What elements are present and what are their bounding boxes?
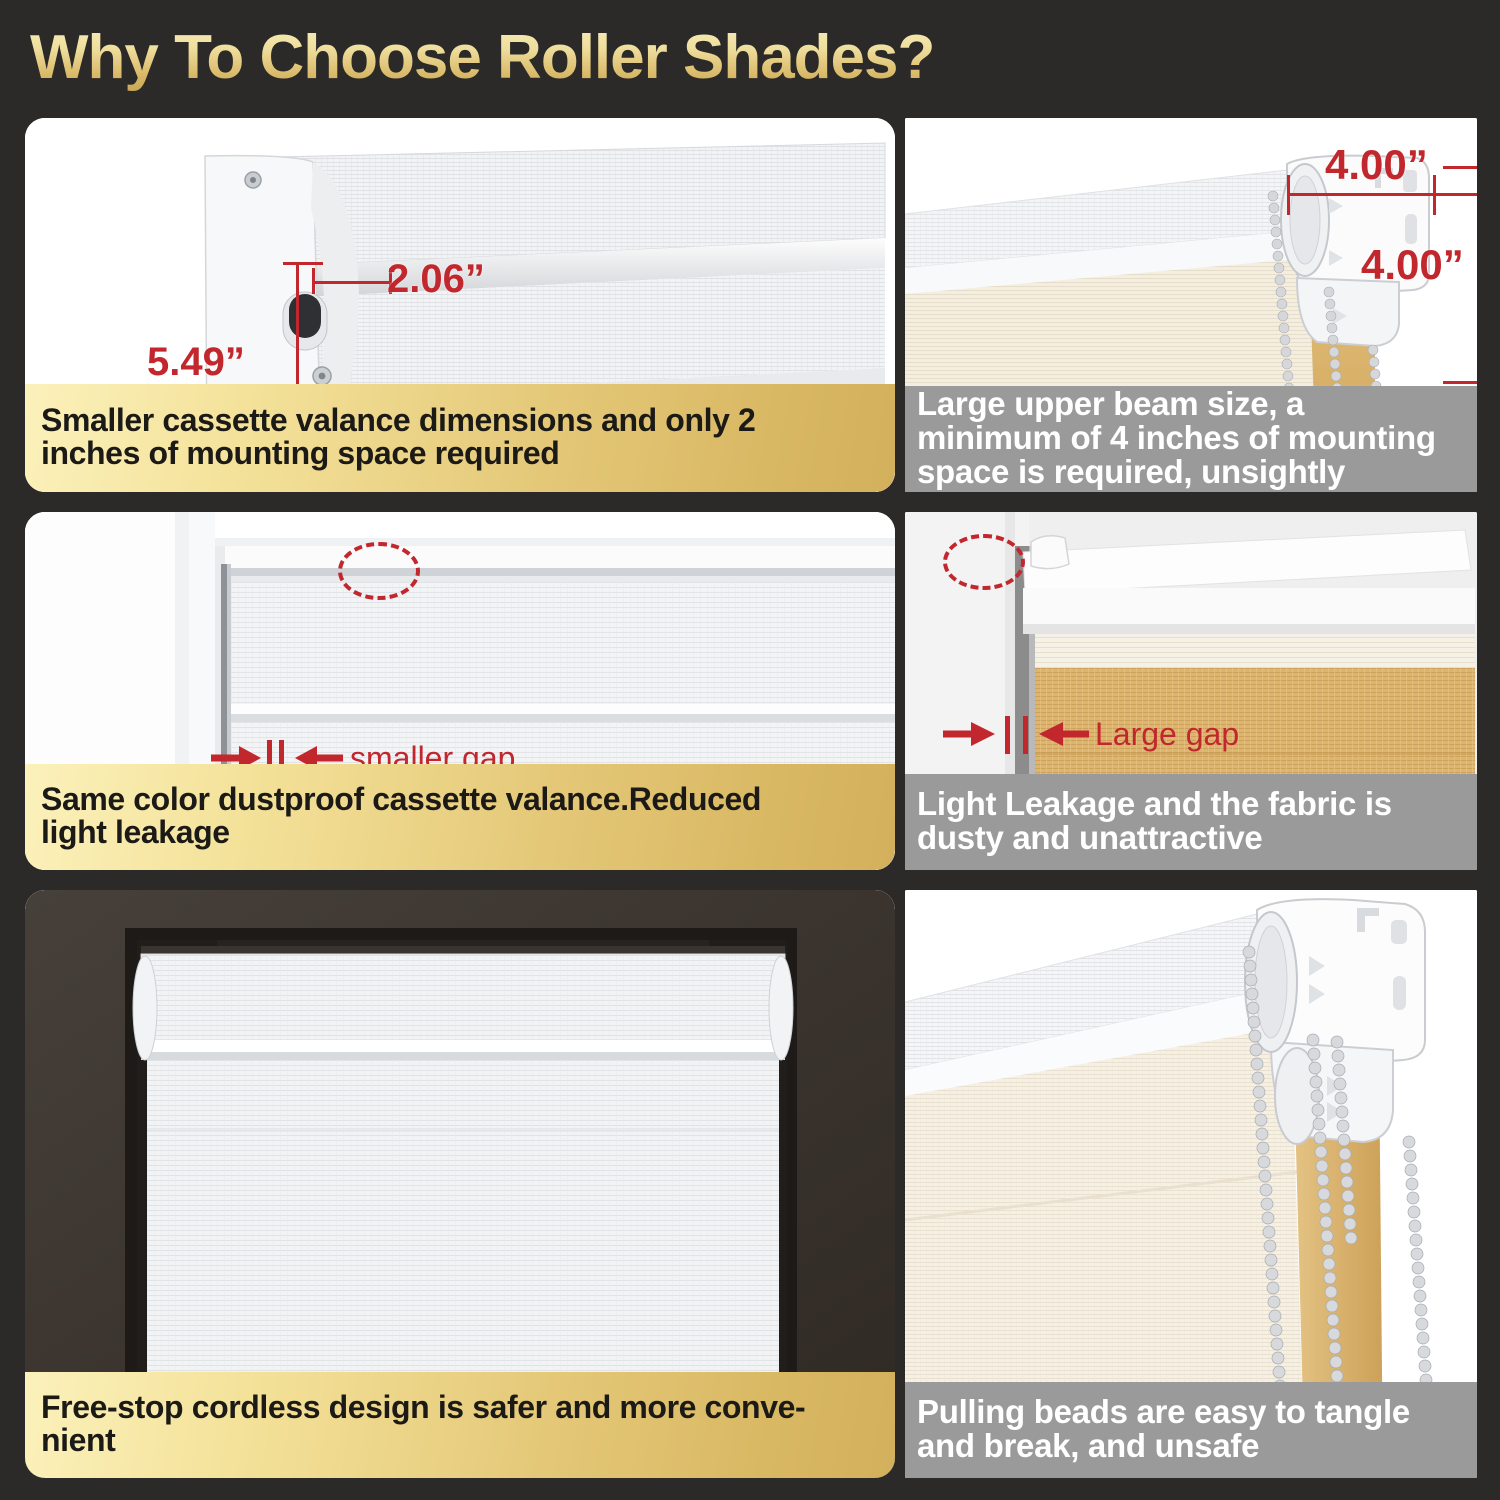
caption-line: Smaller cassette valance dimensions and …: [41, 404, 879, 437]
caption-line: Pulling beads are easy to tangle: [917, 1395, 1465, 1429]
page-title: Why To Choose Roller Shades?: [30, 22, 934, 93]
panel-pro-cassette-size: 2.06” 5.49” Smaller cassette valance dim…: [25, 118, 895, 492]
height-dimension-label: 5.49”: [147, 340, 245, 385]
panel-pro-dustproof-valance: smaller gap Same color dustproof cassett…: [25, 512, 895, 870]
caption-line: light leakage: [41, 816, 879, 849]
caption-line: inches of mounting space required: [41, 437, 879, 470]
caption-con-pulling-beads: Pulling beads are easy to tangle and bre…: [905, 1382, 1477, 1478]
beam-width-dimension-tick-left: [1287, 175, 1290, 215]
panel-con-light-leakage: Large gap Light Leakage and the fabric i…: [905, 512, 1477, 870]
caption-pro-cordless-design: Free-stop cordless design is safer and m…: [25, 1372, 895, 1478]
caption-line: Free-stop cordless design is safer and m…: [41, 1391, 879, 1424]
panel-pro-cordless-design: Free-stop cordless design is safer and m…: [25, 890, 895, 1478]
panel-con-large-beam: 4.00” 4.00” Large upper beam size, a min…: [905, 118, 1477, 492]
inspection-circle-icon: [338, 542, 420, 600]
caption-line: nient: [41, 1424, 879, 1457]
caption-line: Same color dustproof cassette valance.Re…: [41, 783, 879, 816]
width-dimension-tick-left: [312, 268, 315, 294]
height-dimension-tick-top: [283, 262, 323, 265]
beam-width-dimension-line: [1287, 193, 1477, 196]
caption-line: dusty and unattractive: [917, 821, 1465, 855]
caption-line: minimum of 4 inches of mounting: [917, 421, 1465, 455]
caption-con-large-beam: Large upper beam size, a minimum of 4 in…: [905, 386, 1477, 492]
infographic-page: Why To Choose Roller Shades?: [0, 0, 1500, 1500]
caption-con-light-leakage: Light Leakage and the fabric is dusty an…: [905, 774, 1477, 870]
large-gap-label: Large gap: [1095, 716, 1239, 753]
caption-line: space is required, unsightly: [917, 455, 1465, 489]
beam-height-dimension-tick-top: [1443, 166, 1477, 169]
beam-width-dimension-tick-right: [1433, 175, 1436, 215]
beam-height-dimension-tick-bottom: [1443, 381, 1477, 384]
beam-height-dimension-label: 4.00”: [1361, 241, 1464, 289]
caption-pro-cassette-size: Smaller cassette valance dimensions and …: [25, 384, 895, 492]
caption-line: Large upper beam size, a: [917, 387, 1465, 421]
width-dimension-label: 2.06”: [387, 257, 485, 302]
caption-pro-dustproof-valance: Same color dustproof cassette valance.Re…: [25, 764, 895, 870]
panel-con-pulling-beads: Pulling beads are easy to tangle and bre…: [905, 890, 1477, 1478]
caption-line: and break, and unsafe: [917, 1429, 1465, 1463]
inspection-circle-icon: [943, 534, 1025, 590]
beam-width-dimension-label: 4.00”: [1325, 141, 1428, 189]
caption-line: Light Leakage and the fabric is: [917, 787, 1465, 821]
width-dimension-line: [312, 281, 392, 284]
